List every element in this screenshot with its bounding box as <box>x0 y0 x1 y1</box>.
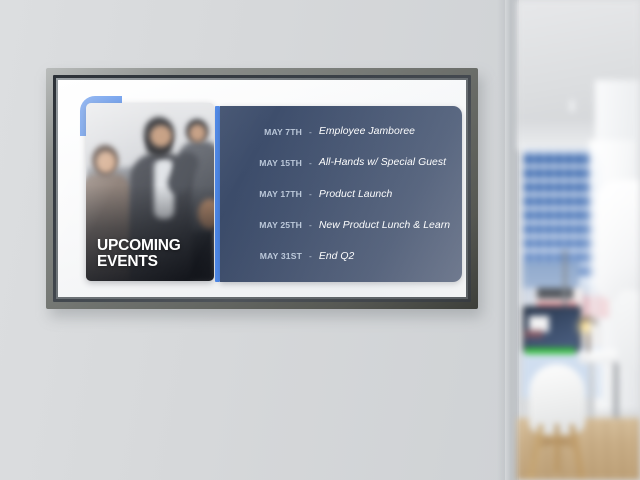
event-separator: - <box>302 127 319 137</box>
events-list: MAY 7TH - Employee Jamboree MAY 15TH - A… <box>220 106 462 282</box>
event-date: MAY 31ST <box>226 251 302 261</box>
event-date: MAY 25TH <box>226 220 302 230</box>
support-pole <box>563 250 567 306</box>
monitor-screen-accent <box>525 330 543 338</box>
green-strip <box>525 348 575 354</box>
event-separator: - <box>302 189 319 199</box>
event-name: New Product Lunch & Learn <box>319 220 450 231</box>
slide-upcoming-events: UPCOMING EVENTS MAY 7TH - Employee Jambo… <box>58 80 466 297</box>
city-building <box>523 150 595 280</box>
event-date: MAY 7TH <box>226 127 302 137</box>
event-date: MAY 15TH <box>226 158 302 168</box>
poster-dark-band <box>537 288 573 299</box>
photo-person-right-face <box>189 124 206 142</box>
event-name: Employee Jamboree <box>319 126 415 137</box>
event-row: MAY 7TH - Employee Jamboree <box>226 116 450 147</box>
events-panel: MAY 7TH - Employee Jamboree MAY 15TH - A… <box>220 106 462 282</box>
wall-mounted-display[interactable]: UPCOMING EVENTS MAY 7TH - Employee Jambo… <box>46 68 478 309</box>
slide-title-line-1: UPCOMING <box>97 238 208 254</box>
ceiling-fixture <box>569 100 575 112</box>
slide-title-line-2: EVENTS <box>97 254 208 270</box>
event-row: MAY 15TH - All-Hands w/ Special Guest <box>226 147 450 178</box>
display-screen[interactable]: UPCOMING EVENTS MAY 7TH - Employee Jambo… <box>58 80 466 297</box>
background-office-scene <box>517 0 640 480</box>
event-separator: - <box>302 158 319 168</box>
event-name: All-Hands w/ Special Guest <box>319 157 446 168</box>
event-row: MAY 31ST - End Q2 <box>226 241 450 272</box>
event-separator: - <box>302 220 319 230</box>
window-glare <box>589 140 635 440</box>
event-date: MAY 17TH <box>226 189 302 199</box>
event-separator: - <box>302 251 319 261</box>
wall-corner-shadow <box>497 0 517 480</box>
photo-card: UPCOMING EVENTS <box>86 103 214 281</box>
photo-person-left-face <box>96 151 116 173</box>
event-name: Product Launch <box>319 189 393 200</box>
event-row: MAY 25TH - New Product Lunch & Learn <box>226 210 450 241</box>
office-room: UPCOMING EVENTS MAY 7TH - Employee Jambo… <box>0 0 640 480</box>
slide-title: UPCOMING EVENTS <box>97 238 208 270</box>
photo-person-center-face <box>150 125 172 147</box>
event-row: MAY 17TH - Product Launch <box>226 178 450 209</box>
event-name: End Q2 <box>319 251 355 262</box>
chair-leg-3 <box>555 424 559 472</box>
